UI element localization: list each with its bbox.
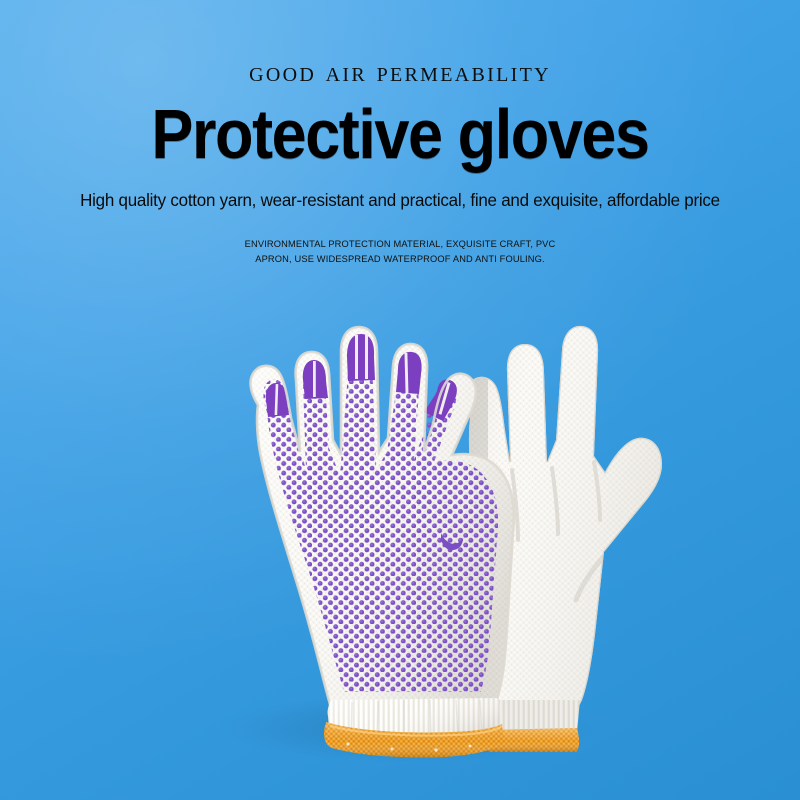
product-banner: Good Air Permeability Protective gloves … xyxy=(0,0,800,800)
banner-subtitle: High quality cotton yarn, wear-resistant… xyxy=(12,169,788,211)
fineprint-line-1: ENVIRONMENTAL PROTECTION MATERIAL, EXQUI… xyxy=(235,237,565,252)
banner-headline: Protective gloves xyxy=(40,87,760,169)
banner-text-block: Good Air Permeability Protective gloves … xyxy=(0,0,800,266)
fingertip-patch-middle xyxy=(347,334,375,381)
banner-eyebrow: Good Air Permeability xyxy=(0,0,800,87)
banner-fineprint: ENVIRONMENTAL PROTECTION MATERIAL, EXQUI… xyxy=(235,211,565,266)
fineprint-line-2: APRON, USE WIDESPREAD WATERPROOF AND ANT… xyxy=(235,252,565,267)
front-glove xyxy=(240,315,530,725)
